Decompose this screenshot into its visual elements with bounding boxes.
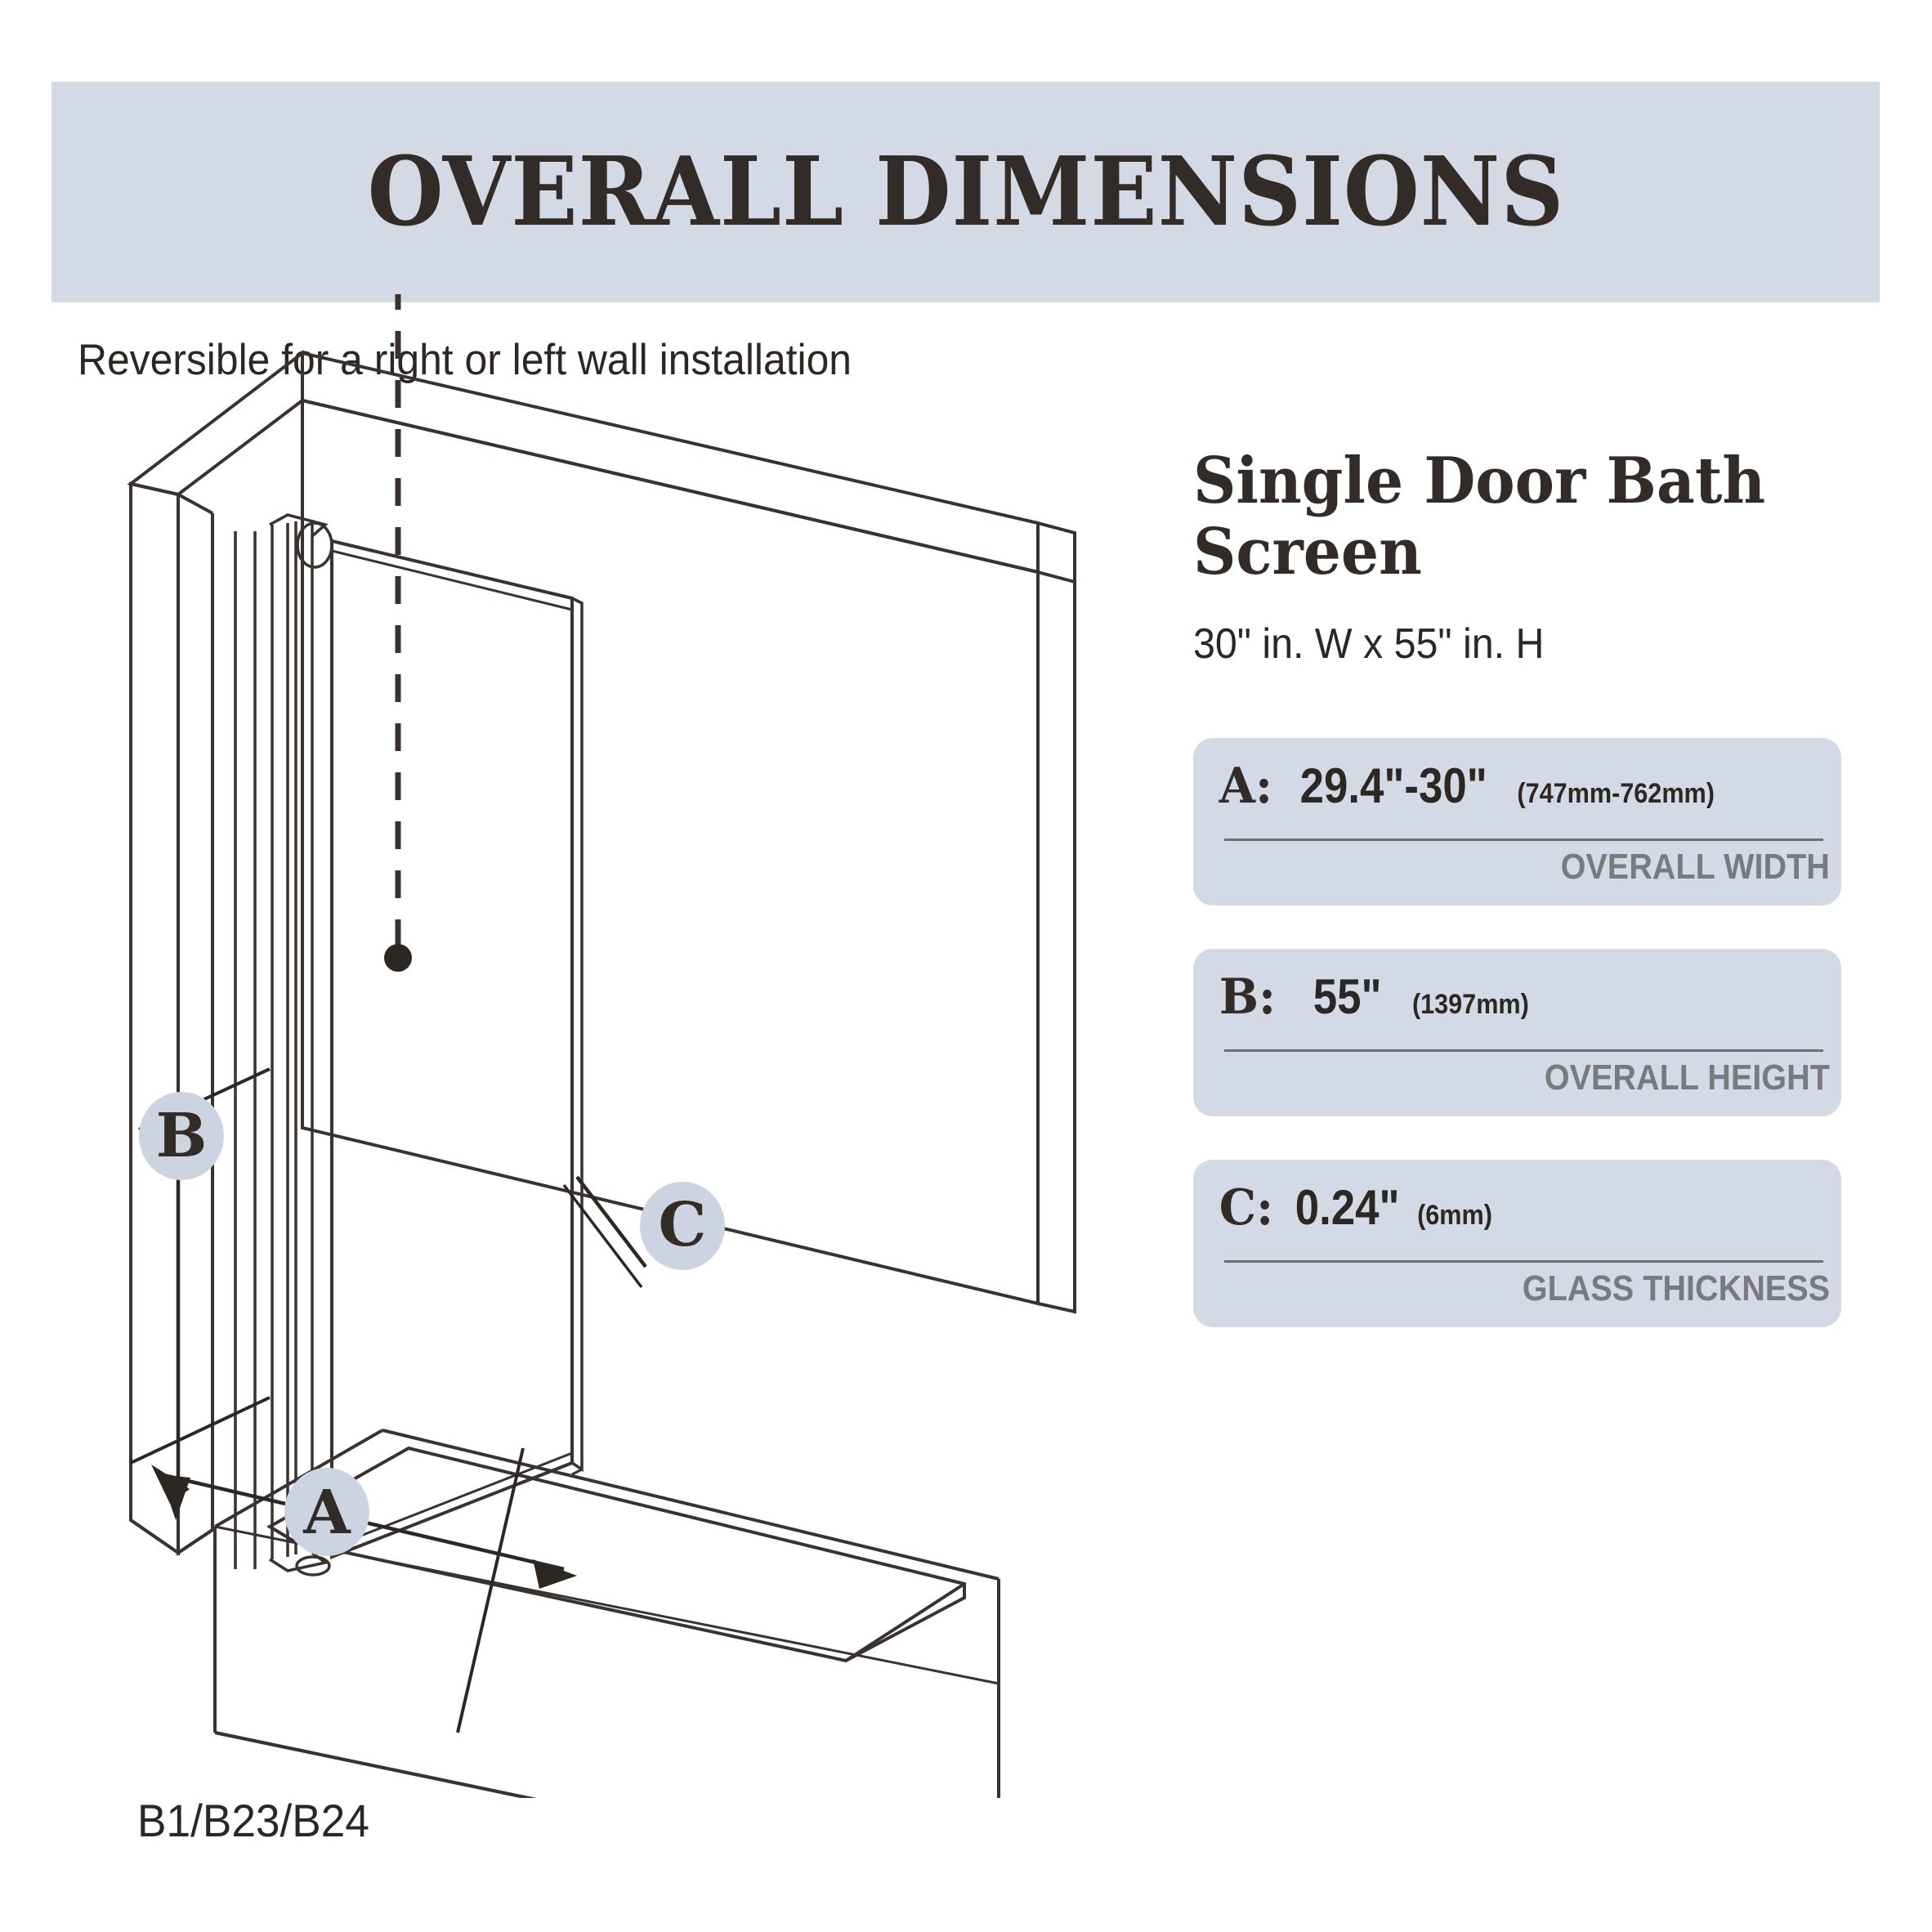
spec-c-caption: GLASS THICKNESS [1523, 1268, 1830, 1309]
spec-box-overall-height: B: 55" (1397mm) OVERALL HEIGHT [1193, 949, 1841, 1116]
page-title: OVERALL DIMENSIONS [367, 136, 1564, 248]
product-subtitle: 30" in. W x 55" in. H [1193, 619, 1801, 669]
callout-c-label: C [659, 1190, 707, 1260]
glass-panel-face [332, 541, 572, 1557]
glass-panel-bottom-thickness [572, 1469, 582, 1474]
spec-b-mm-value: (1397mm) [1412, 989, 1529, 1021]
left-wall-bottom [131, 1520, 178, 1553]
product-title: Single Door Bath Screen [1193, 445, 1847, 588]
tub-front-bottom [215, 1733, 999, 1798]
spec-c-inch-value: 0.24" [1295, 1179, 1400, 1236]
isometric-product-drawing: C B A [0, 294, 1161, 1798]
tub-front-face-edge [215, 1733, 999, 1798]
spec-a-mm-value: (747mm-762mm) [1518, 778, 1715, 810]
spec-a-letter: A: [1219, 758, 1272, 815]
back-wall-right-inner-line [1038, 572, 1075, 582]
back-wall-right-edge [1038, 523, 1075, 1312]
spec-a-divider [1224, 839, 1823, 841]
spec-a-caption: OVERALL WIDTH [1561, 847, 1830, 888]
jamb-top-cap [270, 515, 325, 536]
spec-b-caption: OVERALL HEIGHT [1545, 1058, 1830, 1098]
spec-c-value-row: C: 0.24" (6mm) [1218, 1179, 1817, 1237]
reversible-axis-dot [384, 944, 412, 972]
callout-c-leader [577, 1177, 646, 1267]
spec-box-glass-thickness: C: 0.24" (6mm) GLASS THICKNESS [1193, 1160, 1841, 1327]
callout-badge-c: C [640, 1182, 725, 1270]
tub-inner-basin-right [846, 1584, 964, 1661]
model-code: B1/B23/B24 [137, 1794, 369, 1847]
left-wall-front-face [178, 494, 212, 1553]
spec-b-letter: B: [1219, 968, 1276, 1026]
dim-b-bottom-extension [131, 1398, 270, 1463]
callout-badge-a: A [284, 1468, 369, 1556]
spec-b-divider [1224, 1049, 1823, 1052]
spec-b-inch-value: 55" [1313, 968, 1382, 1025]
spec-column: Single Door Bath Screen 30" in. W x 55" … [1193, 445, 1847, 669]
callout-badge-b: B [139, 1092, 224, 1180]
spec-c-divider [1224, 1260, 1823, 1263]
spec-c-letter: C: [1219, 1179, 1273, 1237]
back-wall-top-face [302, 353, 1038, 572]
callout-b-label: B [156, 1101, 208, 1171]
left-wall-bottom-front [178, 1530, 212, 1553]
spec-c-mm-value: (6mm) [1417, 1200, 1492, 1232]
left-wall-thickness [131, 484, 178, 1553]
spec-b-value-row: B: 55" (1397mm) [1218, 968, 1817, 1026]
spec-box-overall-width: A: 29.4"-30" (747mm-762mm) OVERALL WIDTH [1193, 738, 1841, 906]
spec-a-inch-value: 29.4"-30" [1299, 758, 1487, 814]
left-wall-top-join [178, 494, 212, 513]
header-banner: OVERALL DIMENSIONS [51, 82, 1880, 302]
dim-a-arrowhead-right [533, 1559, 577, 1589]
callout-a-label: A [302, 1478, 351, 1548]
left-wall-top-face [131, 353, 302, 494]
spec-a-value-row: A: 29.4"-30" (747mm-762mm) [1218, 758, 1817, 815]
